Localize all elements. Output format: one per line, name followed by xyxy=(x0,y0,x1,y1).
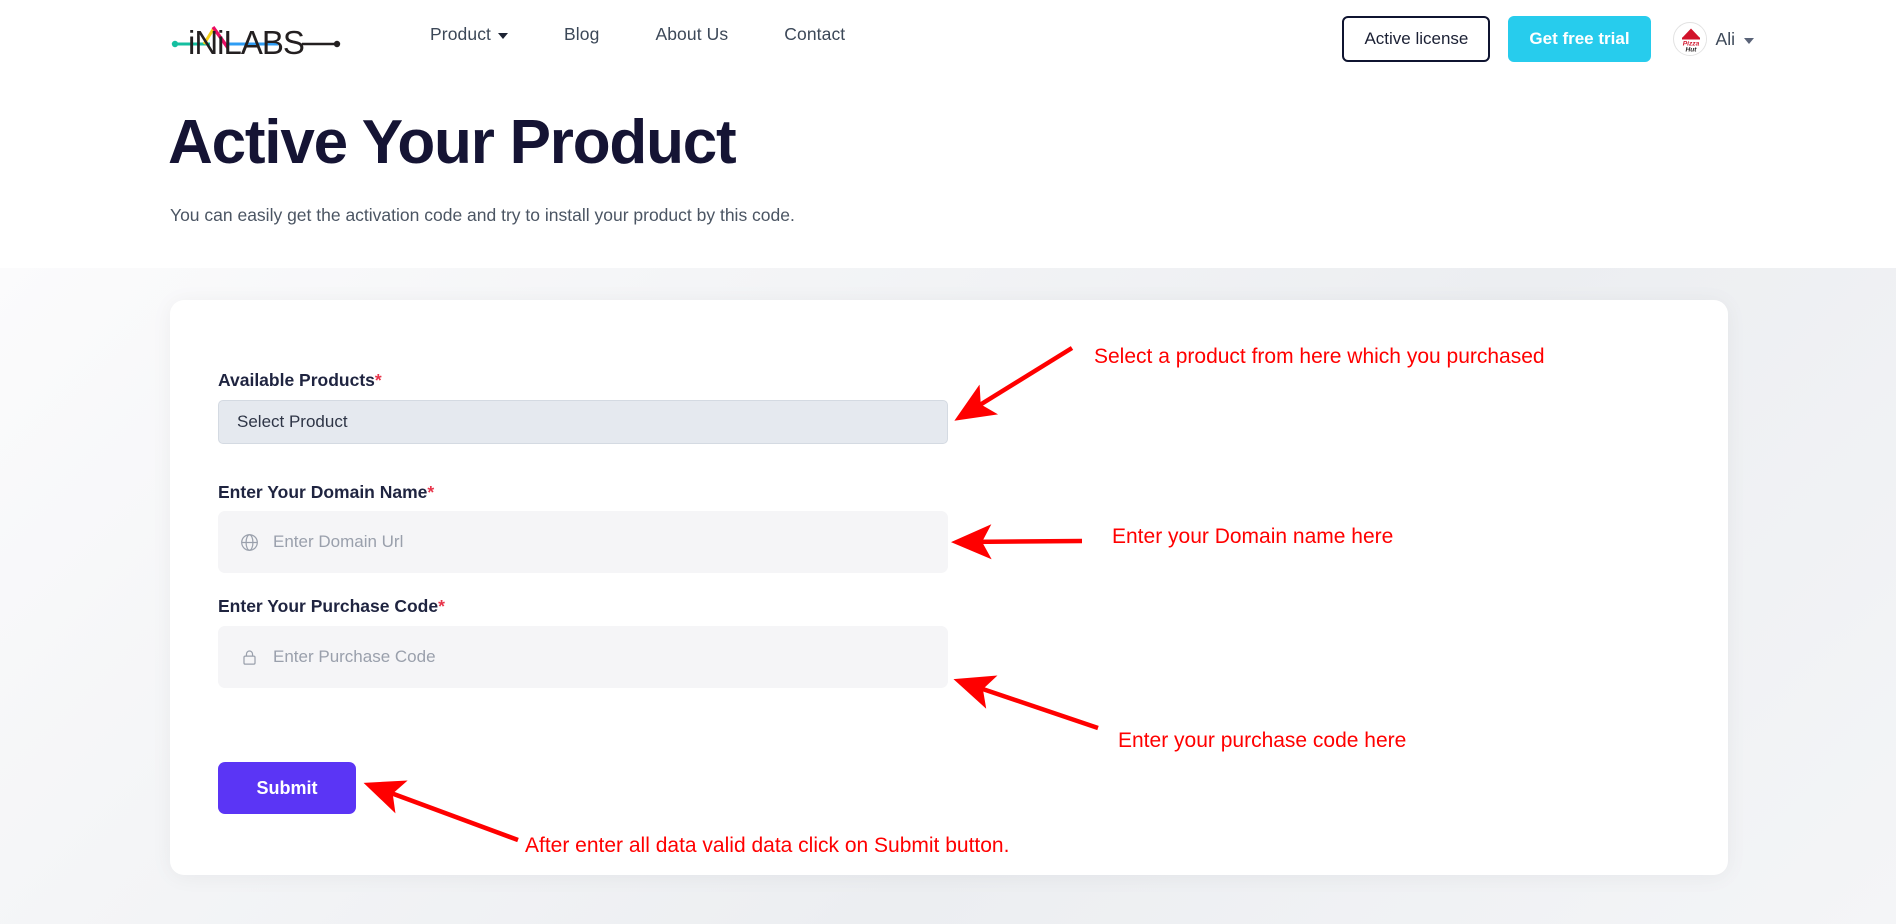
nav-item-contact[interactable]: Contact xyxy=(784,24,845,45)
nav-label-blog: Blog xyxy=(564,24,599,45)
product-select[interactable]: Select Product xyxy=(218,400,948,444)
nav-item-product[interactable]: Product xyxy=(430,24,508,45)
required-asterisk: * xyxy=(427,482,434,502)
svg-text:Hut: Hut xyxy=(1685,47,1697,54)
required-asterisk: * xyxy=(438,596,445,616)
header-actions: Active license Get free trial Pizza Hut … xyxy=(1342,16,1754,62)
nav-item-blog[interactable]: Blog xyxy=(564,24,599,45)
purchase-code-input[interactable]: Enter Purchase Code xyxy=(218,626,948,688)
lock-icon xyxy=(240,648,259,667)
product-select-value: Select Product xyxy=(237,412,348,432)
submit-button[interactable]: Submit xyxy=(218,762,356,814)
chevron-down-icon xyxy=(498,33,508,39)
annotation-purchase-code: Enter your purchase code here xyxy=(1118,729,1406,753)
available-products-label: Available Products* xyxy=(218,370,382,391)
activation-form-card xyxy=(170,300,1728,875)
get-free-trial-button[interactable]: Get free trial xyxy=(1508,16,1650,62)
domain-name-label: Enter Your Domain Name* xyxy=(218,482,434,503)
domain-input-placeholder: Enter Domain Url xyxy=(273,532,403,552)
avatar: Pizza Hut xyxy=(1673,22,1707,56)
annotation-product: Select a product from here which you pur… xyxy=(1094,345,1545,369)
pizza-hut-logo-icon: Pizza Hut xyxy=(1674,23,1707,56)
required-asterisk: * xyxy=(375,370,382,390)
page-root: iNiLABS Product Blog About Us Contact Ac… xyxy=(0,0,1896,924)
svg-text:iNiLABS: iNiLABS xyxy=(188,24,304,60)
main-nav: Product Blog About Us Contact xyxy=(430,24,845,45)
domain-input[interactable]: Enter Domain Url xyxy=(218,511,948,573)
page-title: Active Your Product xyxy=(168,112,735,174)
nav-item-about-us[interactable]: About Us xyxy=(655,24,728,45)
nav-label-product: Product xyxy=(430,24,491,45)
chevron-down-icon xyxy=(1744,38,1754,44)
label-text: Available Products xyxy=(218,370,375,390)
annotation-submit: After enter all data valid data click on… xyxy=(525,834,1009,858)
logo-svg: iNiLABS xyxy=(170,14,350,60)
nav-label-about-us: About Us xyxy=(655,24,728,45)
user-name: Ali xyxy=(1716,29,1735,50)
annotation-domain: Enter your Domain name here xyxy=(1112,525,1393,549)
label-text: Enter Your Domain Name xyxy=(218,482,427,502)
nav-label-contact: Contact xyxy=(784,24,845,45)
inilabs-logo[interactable]: iNiLABS xyxy=(170,14,350,60)
purchase-code-label: Enter Your Purchase Code* xyxy=(218,596,445,617)
globe-icon xyxy=(240,533,259,552)
label-text: Enter Your Purchase Code xyxy=(218,596,438,616)
active-license-button[interactable]: Active license xyxy=(1342,16,1490,62)
purchase-code-input-placeholder: Enter Purchase Code xyxy=(273,647,436,667)
page-subtitle: You can easily get the activation code a… xyxy=(170,205,795,226)
user-menu[interactable]: Pizza Hut Ali xyxy=(1673,22,1754,56)
site-header: iNiLABS Product Blog About Us Contact Ac… xyxy=(0,0,1896,80)
